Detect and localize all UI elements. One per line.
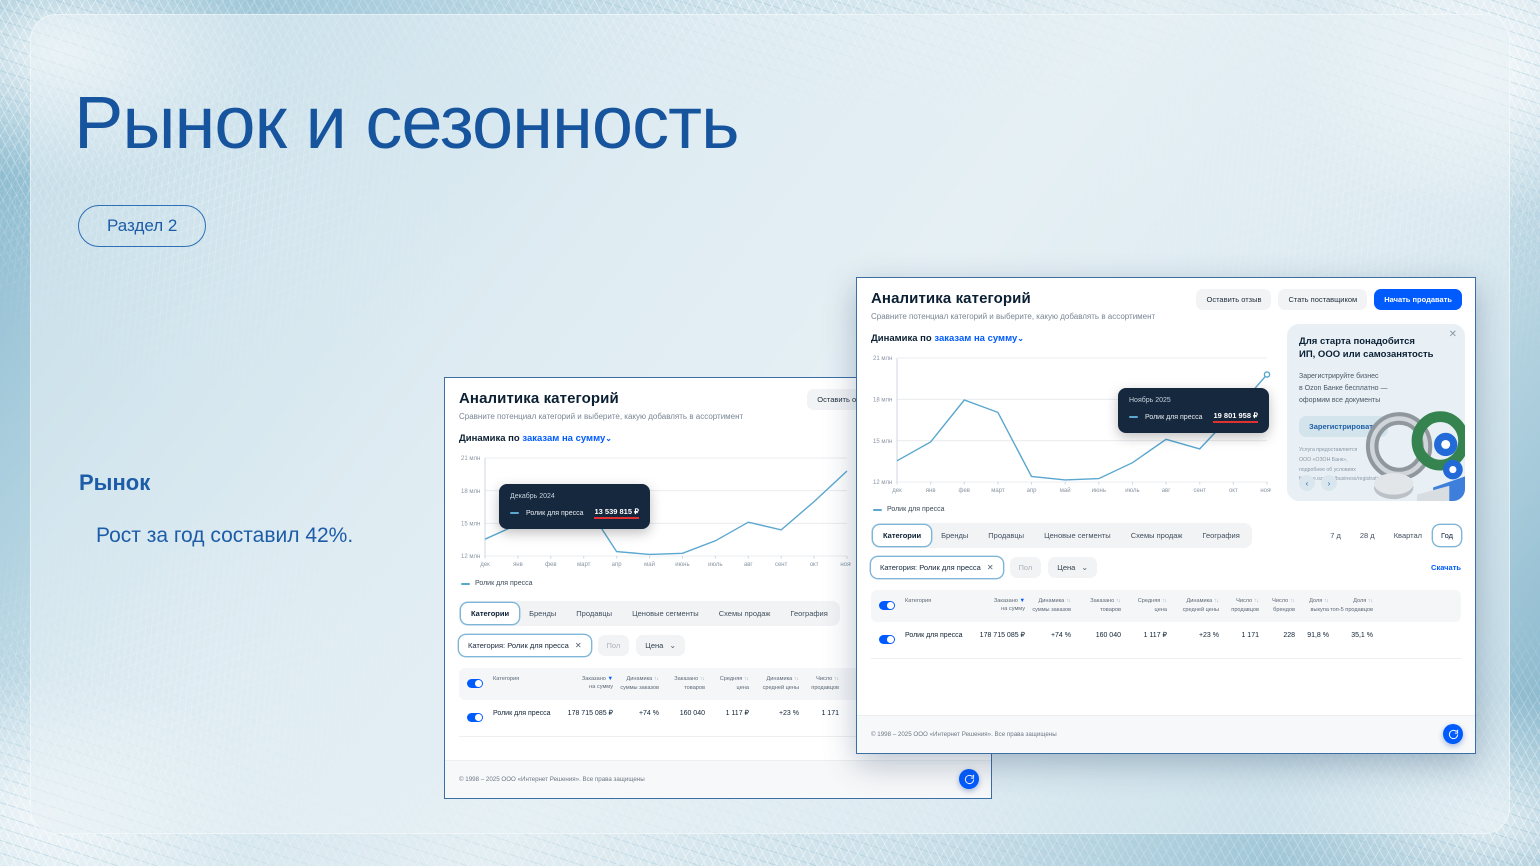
chevron-down-icon[interactable]: ⌄ [1017, 334, 1024, 343]
table-header-buyout-share[interactable]: Доля ↑↓выкупа [1295, 597, 1329, 614]
period-selector[interactable]: 7 д28 дКварталГод [1322, 525, 1461, 546]
svg-text:фев: фев [959, 488, 970, 494]
close-icon-chip-back[interactable]: ✕ [575, 641, 582, 650]
section-badge: Раздел 2 [78, 205, 206, 247]
period-год[interactable]: Год [1433, 525, 1461, 546]
table-cell-avg-price: 1 117 ₽ [705, 709, 749, 719]
svg-text:авг: авг [1162, 488, 1172, 494]
table-select-all-toggle[interactable] [467, 675, 493, 693]
close-icon-promo[interactable]: ✕ [1449, 330, 1457, 340]
copyright-back: © 1998 – 2025 ООО «Интернет Решения». Вс… [459, 776, 645, 783]
chat-support-icon[interactable] [1443, 724, 1463, 744]
svg-text:май: май [644, 561, 655, 568]
tab-продавцы[interactable]: Продавцы [566, 603, 622, 624]
chevron-down-icon-price: ⌄ [1081, 563, 1088, 572]
chart-legend: Ролик для пресса [873, 506, 1475, 513]
table-header-avg-price[interactable]: Средняя ↑↓цена [1121, 597, 1167, 614]
table-cell-avg-price-dynamics: +23 % [1167, 631, 1219, 641]
svg-text:12 млн: 12 млн [873, 480, 892, 486]
chip-price[interactable]: Цена ⌄ [1048, 557, 1097, 578]
tooltip-value-back: 13 539 815 ₽ [594, 507, 638, 519]
page-footer-back: © 1998 – 2025 ООО «Интернет Решения». Вс… [445, 760, 991, 798]
page-footer: © 1998 – 2025 ООО «Интернет Решения». Вс… [857, 715, 1475, 753]
header-buttons: Оставить отзыв Стать поставщиком Начать … [1196, 289, 1462, 310]
filter-chips: Категория: Ролик для пресса ✕ Пол Цена ⌄ [871, 557, 1097, 578]
svg-text:21 млн: 21 млн [873, 356, 892, 362]
chat-support-icon-back[interactable] [959, 769, 979, 789]
svg-text:июль: июль [1125, 488, 1139, 494]
chip-price-label: Цена [1057, 563, 1075, 572]
table-cell-category: Ролик для пресса [493, 709, 555, 719]
dynamics-prefix: Динамика по [871, 333, 932, 344]
dynamics-metric-select[interactable]: заказам на сумму [934, 333, 1017, 344]
table-cell-category: Ролик для пресса [905, 631, 967, 641]
leave-review-button[interactable]: Оставить отзыв [1196, 289, 1271, 310]
tab-ценовые-сегменты[interactable]: Ценовые сегменты [1034, 525, 1121, 546]
legend-label: Ролик для пресса [887, 506, 944, 513]
dynamics-metric-select-back[interactable]: заказам на сумму [522, 433, 605, 444]
promo-illustration [1363, 405, 1465, 501]
chevron-down-icon-back[interactable]: ⌄ [605, 434, 612, 443]
chart-point-marker [1264, 372, 1269, 377]
table-cell-top5-share: 35,1 % [1329, 631, 1373, 641]
svg-text:нояб: нояб [1260, 488, 1271, 494]
tooltip-value: 19 801 958 ₽ [1213, 411, 1257, 423]
table-cell-brands: 228 [1259, 631, 1295, 641]
market-body-text: Рост за год составил 42%. [96, 524, 353, 548]
sort-icon[interactable]: ↑↓ [834, 676, 839, 682]
filter-chips-back: Категория: Ролик для пресса ✕ Пол Цена ⌄ [459, 635, 685, 656]
tab-география[interactable]: География [780, 603, 837, 624]
tooltip-date-back: Декабрь 2024 [510, 493, 639, 500]
table-header-ordered-sum[interactable]: Заказано ▼на сумму [555, 675, 613, 691]
table-header-avg-price-dynamics[interactable]: Динамика ↑↓средней цены [749, 675, 799, 692]
svg-text:янв: янв [926, 488, 936, 494]
tab-схемы-продаж[interactable]: Схемы продаж [1121, 525, 1193, 546]
svg-text:апр: апр [1027, 488, 1038, 494]
tooltip-date: Ноябрь 2025 [1129, 397, 1258, 404]
chart-tooltip-back: Декабрь 2024 Ролик для пресса 13 539 815… [499, 484, 650, 529]
chip-price-label-back: Цена [645, 641, 663, 650]
svg-text:авг: авг [744, 562, 754, 568]
svg-text:июнь: июнь [1092, 488, 1106, 494]
chevron-down-icon-price-back: ⌄ [669, 641, 676, 650]
promo-text-line1: Зарегистрируйте бизнес [1299, 373, 1378, 380]
table-header-ordered-items[interactable]: Заказано ↑↓товаров [1071, 597, 1121, 614]
table-header-top5-share[interactable]: Доля ↑↓топ-5 продавцов [1329, 597, 1373, 614]
promo-text-line3: оформим все документы [1299, 397, 1380, 404]
table-cell-avg-price: 1 117 ₽ [1121, 631, 1167, 641]
svg-text:18 млн: 18 млн [873, 398, 892, 404]
svg-text:июнь: июнь [675, 562, 689, 568]
tab-ценовые-сегменты[interactable]: Ценовые сегменты [622, 603, 709, 624]
chip-gender[interactable]: Пол [1010, 557, 1042, 578]
promo-fine-line3: подробнее об условиях [1299, 467, 1356, 473]
table-header-sum-dynamics[interactable]: Динамика ↑↓суммы заказов [613, 675, 659, 692]
tooltip-series-dash [1129, 416, 1138, 418]
promo-text: Зарегистрируйте бизнес в Ozon Банке бесп… [1299, 371, 1453, 408]
table-cell-ordered-sum: 178 715 085 ₽ [555, 709, 613, 719]
toggle-icon[interactable] [879, 635, 895, 644]
svg-text:май: май [1060, 487, 1071, 494]
table-row-toggle[interactable] [879, 631, 905, 649]
chip-category[interactable]: Категория: Ролик для пресса ✕ [871, 557, 1003, 578]
table-header-ordered-sum[interactable]: Заказано ▼на сумму [967, 597, 1025, 613]
toggle-icon[interactable] [879, 601, 895, 610]
svg-text:дек: дек [892, 488, 902, 494]
table-cell-buyout-share: 91,8 % [1295, 631, 1329, 641]
chart-tooltip: Ноябрь 2025 Ролик для пресса 19 801 958 … [1118, 388, 1269, 433]
svg-text:окт: окт [810, 562, 819, 568]
promo-prev-button[interactable]: ‹ [1299, 475, 1315, 491]
promo-fine-line2: ООО «ОЗОН Банк», [1299, 457, 1348, 463]
tab-категории[interactable]: Категории [873, 525, 931, 546]
promo-title: Для старта понадобится ИП, ООО или самоз… [1299, 336, 1453, 362]
market-heading: Рынок [79, 470, 150, 496]
table-header-sum-dynamics[interactable]: Динамика ↑↓суммы заказов [1025, 597, 1071, 614]
period-28д[interactable]: 28 д [1352, 525, 1383, 546]
svg-text:18 млн: 18 млн [461, 489, 480, 495]
chip-gender-back[interactable]: Пол [598, 635, 630, 656]
period-7д[interactable]: 7 д [1322, 525, 1349, 546]
svg-text:фев: фев [545, 562, 556, 568]
svg-text:июль: июль [708, 562, 722, 568]
table-cell-ordered-items: 160 040 [659, 709, 705, 719]
promo-next-button[interactable]: › [1321, 475, 1337, 491]
table-header-avg-price-dynamics[interactable]: Динамика ↑↓средней цены [1167, 597, 1219, 614]
table-row[interactable]: Ролик для пресса178 715 085 ₽+74 %160 04… [871, 622, 1461, 659]
svg-text:дек: дек [480, 562, 490, 568]
table-cell-sellers: 1 171 [1219, 631, 1259, 641]
table-cell-avg-price-dynamics: +23 % [749, 709, 799, 719]
tab-бренды[interactable]: Бренды [519, 603, 566, 624]
browser-window-front[interactable]: Аналитика категорий Сравните потенциал к… [856, 277, 1476, 754]
chip-price-back[interactable]: Цена ⌄ [636, 635, 685, 656]
tab-схемы-продаж[interactable]: Схемы продаж [709, 603, 781, 624]
toggle-icon[interactable] [467, 713, 483, 722]
svg-text:март: март [991, 488, 1005, 494]
filter-tabs[interactable]: КатегорииБрендыПродавцыЦеновые сегментыС… [871, 523, 1252, 548]
chip-category-label: Категория: Ролик для пресса [880, 563, 981, 572]
svg-text:март: март [577, 562, 591, 568]
filter-tabs-row: КатегорииБрендыПродавцыЦеновые сегментыС… [871, 523, 1461, 548]
svg-text:21 млн: 21 млн [461, 456, 480, 462]
table-header-ordered-items[interactable]: Заказано ↑↓товаров [659, 675, 705, 692]
tab-география[interactable]: География [1192, 525, 1249, 546]
table-header-sellers[interactable]: Число ↑↓продавцов [799, 675, 839, 692]
table-cell-sellers: 1 171 [799, 709, 839, 719]
download-button[interactable]: Скачать [1431, 563, 1461, 572]
promo-nav: ‹ › [1299, 475, 1337, 491]
svg-text:12 млн: 12 млн [461, 554, 480, 560]
svg-text:окт: окт [1229, 488, 1238, 494]
promo-card[interactable]: ✕ Для старта понадобится ИП, ООО или сам… [1287, 324, 1465, 501]
table-header-category: Категория [905, 597, 967, 605]
tab-продавцы[interactable]: Продавцы [978, 525, 1034, 546]
svg-text:сент: сент [775, 562, 788, 568]
table-cell-sum-dynamics: +74 % [1025, 631, 1071, 641]
page-header-front: Аналитика категорий Сравните потенциал к… [857, 278, 1475, 321]
table-header-brands[interactable]: Число ↑↓брендов [1259, 597, 1295, 614]
promo-text-line2: в Ozon Банке бесплатно — [1299, 385, 1388, 392]
close-icon-chip[interactable]: ✕ [987, 563, 994, 572]
promo-title-line2: ИП, ООО или самозанятость [1299, 349, 1434, 360]
svg-text:сент: сент [1194, 488, 1207, 494]
chip-category-label-back: Категория: Ролик для пресса [468, 641, 569, 650]
filter-tabs-back[interactable]: КатегорииБрендыПродавцыЦеновые сегментыС… [459, 601, 840, 626]
svg-text:15 млн: 15 млн [873, 439, 892, 445]
app-subtitle: Сравните потенциал категорий и выберите,… [871, 312, 1461, 321]
data-table: КатегорияЗаказано ▼на суммуДинамика ↑↓су… [871, 590, 1461, 659]
table-header-sellers[interactable]: Число ↑↓продавцов [1219, 597, 1259, 614]
table-header-avg-price[interactable]: Средняя ↑↓цена [705, 675, 749, 692]
filter-chips-row: Категория: Ролик для пресса ✕ Пол Цена ⌄… [871, 557, 1461, 578]
sort-icon[interactable]: ↑↓ [1368, 598, 1373, 604]
svg-text:15 млн: 15 млн [461, 522, 480, 528]
period-квартал[interactable]: Квартал [1386, 525, 1430, 546]
start-selling-button[interactable]: Начать продавать [1374, 289, 1462, 310]
chip-category-back[interactable]: Категория: Ролик для пресса ✕ [459, 635, 591, 656]
legend-dash-icon [873, 509, 882, 511]
table-row-toggle[interactable] [467, 709, 493, 727]
table-header-category: Категория [493, 675, 555, 683]
table-cell-ordered-sum: 178 715 085 ₽ [967, 631, 1025, 641]
become-supplier-button[interactable]: Стать поставщиком [1278, 289, 1367, 310]
promo-fine-line1: Услуга предоставляется [1299, 447, 1357, 453]
table-select-all-toggle[interactable] [879, 597, 905, 615]
page-title: Рынок и сезонность [74, 86, 739, 160]
tooltip-series-dash-back [510, 512, 519, 514]
tab-бренды[interactable]: Бренды [931, 525, 978, 546]
table-cell-sum-dynamics: +74 % [613, 709, 659, 719]
table-header-row: КатегорияЗаказано ▼на суммуДинамика ↑↓су… [871, 590, 1461, 622]
svg-text:апр: апр [612, 562, 623, 568]
copyright: © 1998 – 2025 ООО «Интернет Решения». Вс… [871, 731, 1057, 738]
toggle-icon[interactable] [467, 679, 483, 688]
tab-категории[interactable]: Категории [461, 603, 519, 624]
table-cell-ordered-items: 160 040 [1071, 631, 1121, 641]
tooltip-series-name-back: Ролик для пресса [526, 510, 583, 517]
legend-dash-icon-back [461, 583, 470, 585]
dynamics-prefix-back: Динамика по [459, 433, 520, 444]
legend-label-back: Ролик для пресса [475, 580, 532, 587]
svg-text:янв: янв [513, 562, 523, 568]
tooltip-series-name: Ролик для пресса [1145, 414, 1202, 421]
svg-text:нояб: нояб [840, 562, 851, 568]
promo-title-line1: Для старта понадобится [1299, 336, 1415, 347]
